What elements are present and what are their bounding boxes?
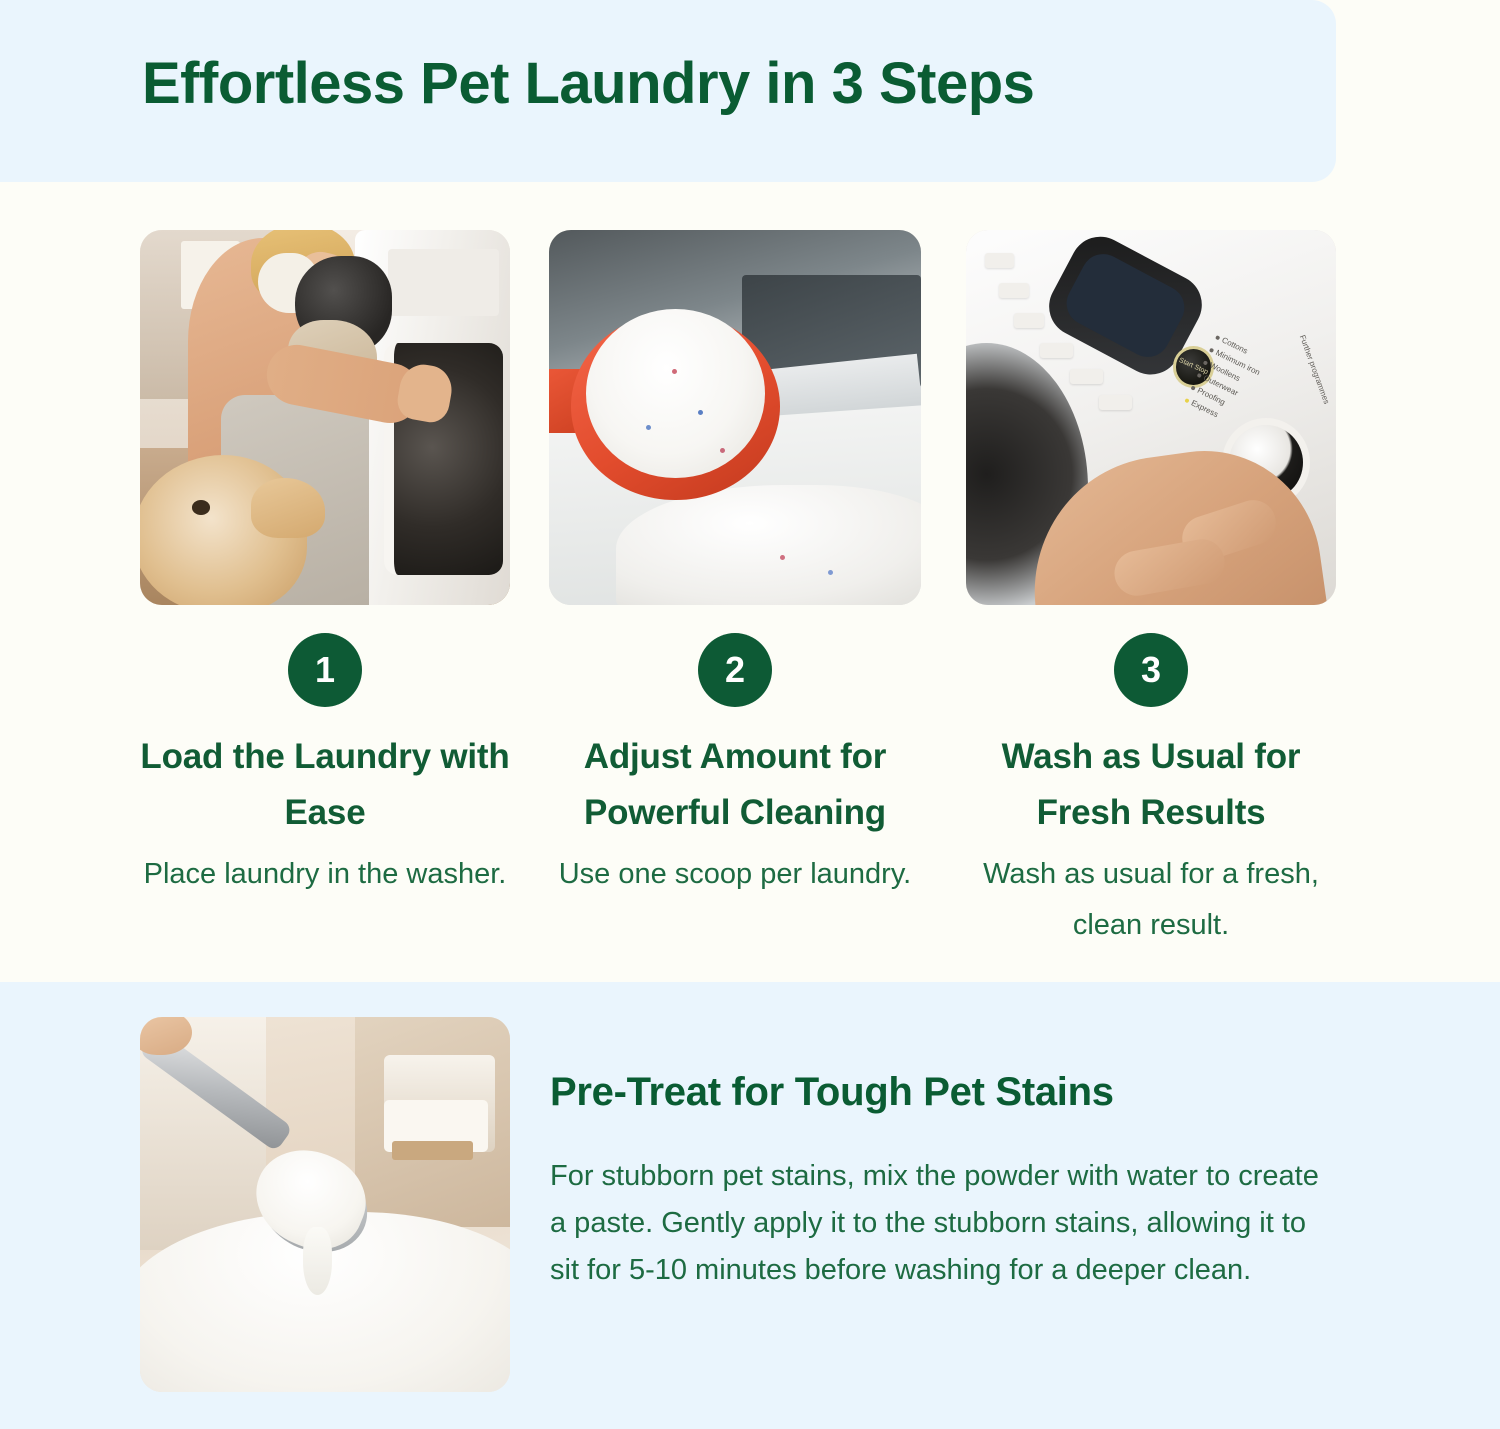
step-number-badge-3: 3 (1114, 633, 1188, 707)
step-1-image (140, 230, 510, 605)
page-title: Effortless Pet Laundry in 3 Steps (142, 50, 1034, 117)
pre-treat-title: Pre-Treat for Tough Pet Stains (550, 1070, 1340, 1115)
step-description-3: Wash as usual for a fresh, clean result. (966, 849, 1336, 951)
step-number-badge-2: 2 (698, 633, 772, 707)
pre-treat-image (140, 1017, 510, 1392)
steps-section: 1 Load the Laundry with Ease Place laund… (0, 182, 1500, 982)
infographic-page: Effortless Pet Laundry in 3 Steps (0, 0, 1500, 1429)
header-panel: Effortless Pet Laundry in 3 Steps (0, 0, 1336, 182)
step-card-3: Start Stop Cottons Minimum iron Woollens… (966, 230, 1336, 951)
step-3-image: Start Stop Cottons Minimum iron Woollens… (966, 230, 1336, 605)
step-description-2: Use one scoop per laundry. (549, 849, 921, 900)
step-title-2: Adjust Amount for Powerful Cleaning (549, 729, 921, 841)
step-card-1: 1 Load the Laundry with Ease Place laund… (140, 230, 510, 900)
step-2-image (549, 230, 921, 605)
step-number-badge-1: 1 (288, 633, 362, 707)
step-card-2: 2 Adjust Amount for Powerful Cleaning Us… (549, 230, 921, 900)
step-title-3: Wash as Usual for Fresh Results (966, 729, 1336, 841)
step-description-1: Place laundry in the washer. (140, 849, 510, 900)
pre-treat-body: For stubborn pet stains, mix the powder … (550, 1153, 1340, 1294)
step-title-1: Load the Laundry with Ease (140, 729, 510, 841)
pre-treat-section: Pre-Treat for Tough Pet Stains For stubb… (0, 982, 1500, 1429)
pre-treat-text: Pre-Treat for Tough Pet Stains For stubb… (550, 1070, 1340, 1294)
